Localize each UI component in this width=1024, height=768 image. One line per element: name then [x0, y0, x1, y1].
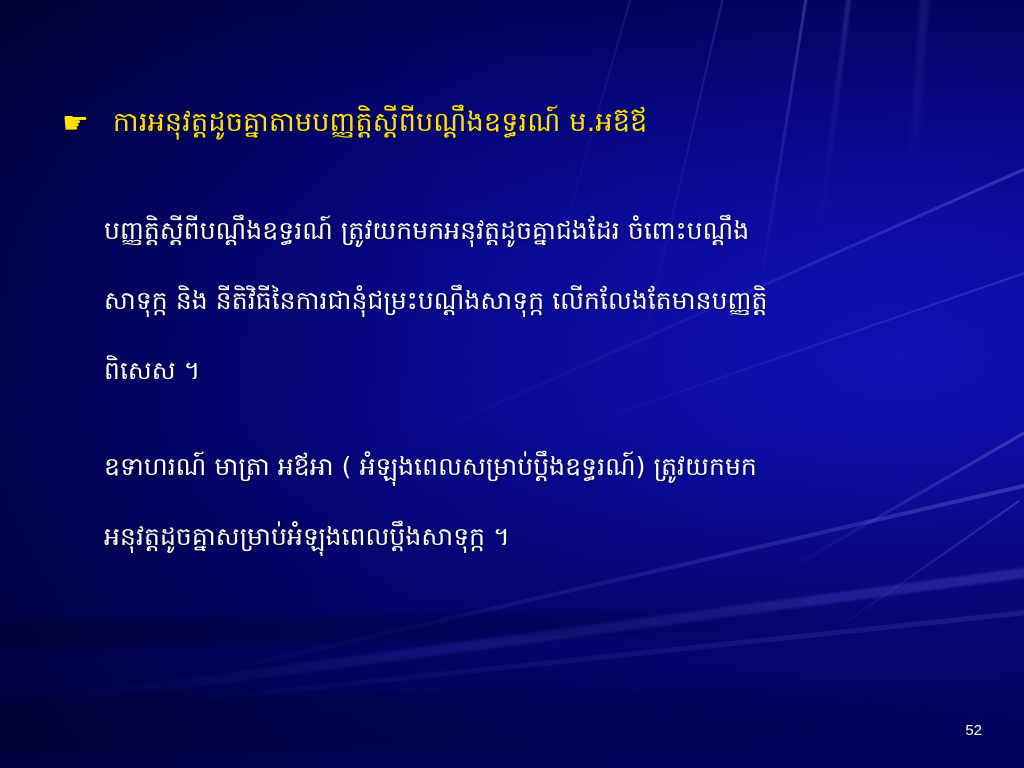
- body-line: អនុវត្តដូចគ្នាសម្រាប់អំឡុងពេលប្ដឹងសាទុក្…: [104, 502, 972, 572]
- pointing-hand-bullet-icon: ☛: [62, 105, 89, 143]
- page-number: 52: [965, 722, 982, 740]
- presentation-slide: ☛ ការអនុវត្តដូចគ្នាតាមបញ្ញត្តិស្តីពីបណ្ដ…: [0, 0, 1024, 768]
- body-paragraph-2: ឧទាហរណ៍ មាត្រា អឪឤ ( អំឡុងពេលសម្រាប់ប្ដឹ…: [104, 432, 972, 572]
- slide-title: ☛ ការអនុវត្តដូចគ្នាតាមបញ្ញត្តិស្តីពីបណ្ដ…: [62, 103, 984, 143]
- body-line: បញ្ញត្តិស្តីពីបណ្ដឹងឧទ្ធរណ៍ ត្រូវយកមកអនុ…: [104, 196, 972, 266]
- slide-title-text: ការអនុវត្តដូចគ្នាតាមបញ្ញត្តិស្តីពីបណ្ដឹង…: [113, 103, 648, 143]
- body-line: សាទុក្ក និង នីតិវិធីនៃការជានុំជម្រះបណ្ដឹ…: [104, 266, 972, 336]
- body-line: ពិសេស ។: [104, 336, 972, 406]
- body-line: ឧទាហរណ៍ មាត្រា អឪឤ ( អំឡុងពេលសម្រាប់ប្ដឹ…: [104, 432, 972, 502]
- body-paragraph-1: បញ្ញត្តិស្តីពីបណ្ដឹងឧទ្ធរណ៍ ត្រូវយកមកអនុ…: [104, 196, 972, 406]
- slide-content: ☛ ការអនុវត្តដូចគ្នាតាមបញ្ញត្តិស្តីពីបណ្ដ…: [0, 0, 1024, 768]
